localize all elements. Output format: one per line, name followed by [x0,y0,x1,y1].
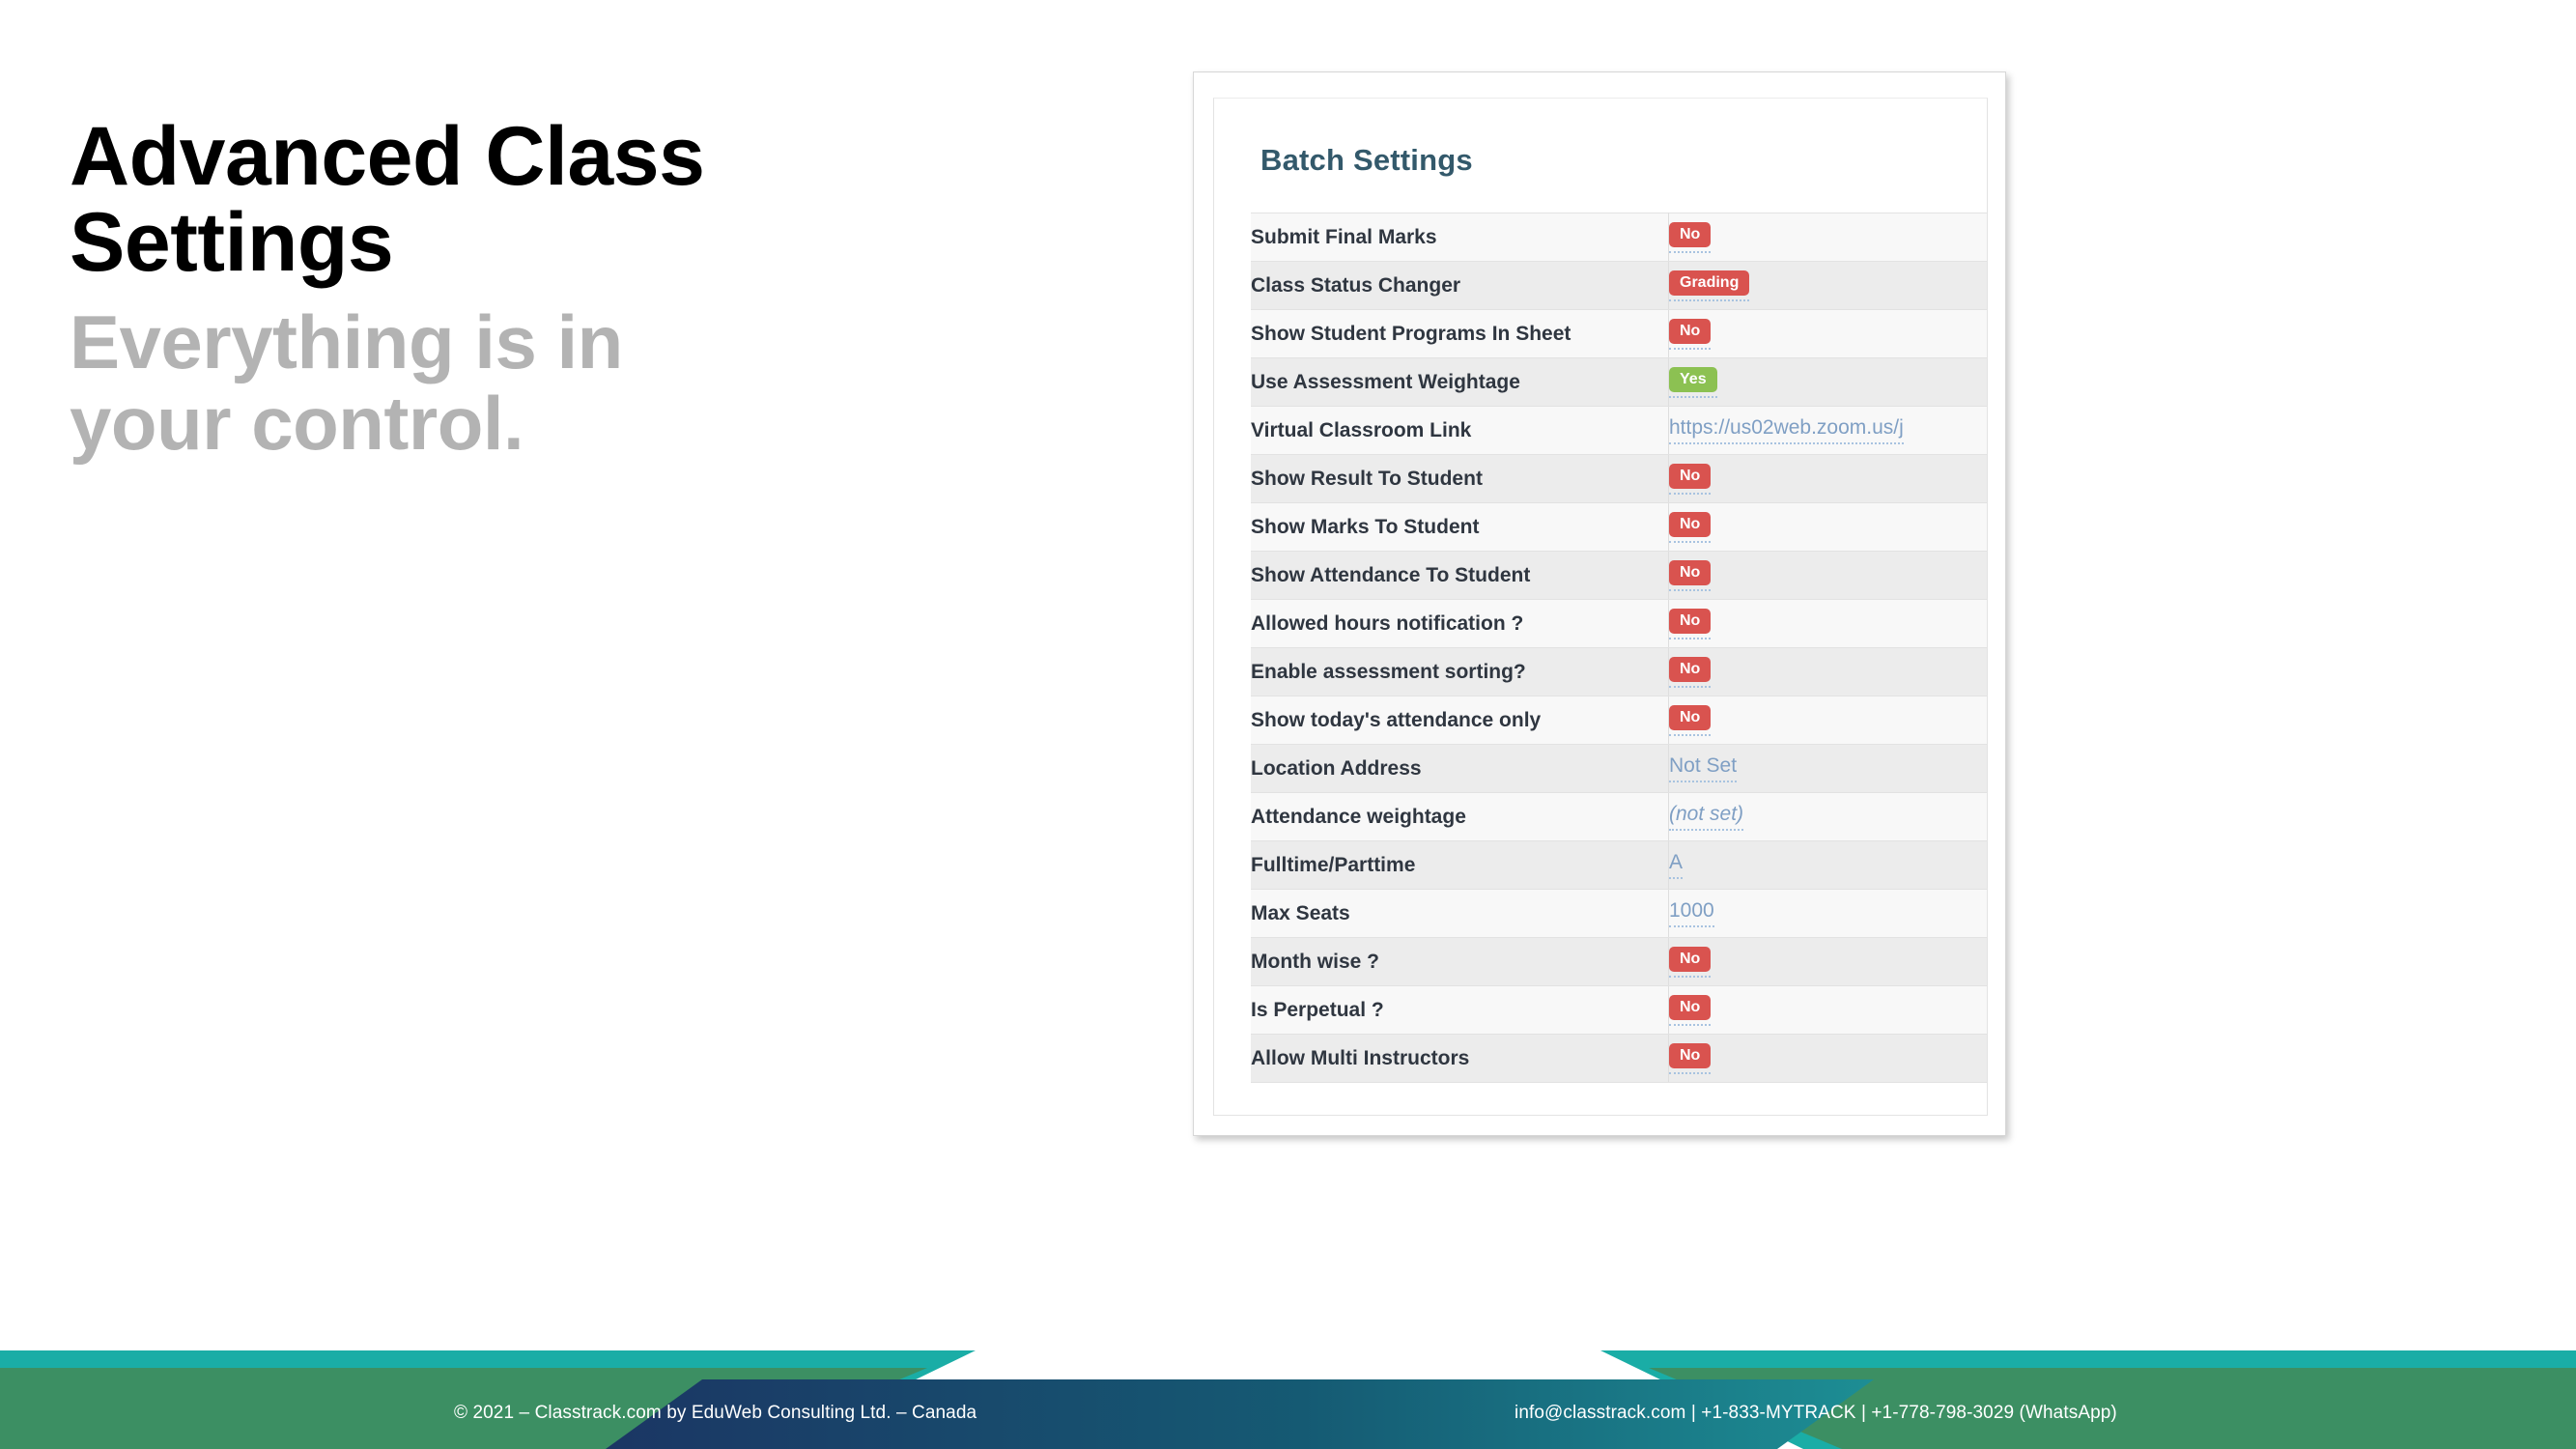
editable-value-wrapper[interactable]: No [1669,463,1711,496]
setting-label: Show Result To Student [1251,455,1669,503]
editable-value-wrapper[interactable]: No [1669,704,1711,737]
setting-value-cell[interactable]: No [1669,1035,1989,1083]
status-badge[interactable]: No [1669,319,1711,345]
setting-label: Enable assessment sorting? [1251,648,1669,696]
settings-table-body: Submit Final MarksNoClass Status Changer… [1251,213,1988,1083]
headline-block: Advanced Class Settings Everything is in… [70,114,997,464]
table-row: Show Result To StudentNo [1251,455,1988,503]
setting-value-cell[interactable]: No [1669,310,1989,358]
table-row: Submit Final MarksNo [1251,213,1988,262]
editable-value-wrapper[interactable]: No [1669,221,1711,254]
table-row: Fulltime/ParttimeA [1251,841,1988,890]
status-badge[interactable]: No [1669,705,1711,731]
setting-value-cell[interactable]: No [1669,986,1989,1035]
editable-value-wrapper[interactable]: No [1669,559,1711,592]
table-row: Show Attendance To StudentNo [1251,552,1988,600]
batch-settings-table: Submit Final MarksNoClass Status Changer… [1251,213,1988,1083]
footer-contact: info@classtrack.com | +1-833-MYTRACK | +… [1514,1403,2117,1424]
editable-value-wrapper[interactable]: No [1669,656,1711,689]
table-row: Show today's attendance onlyNo [1251,696,1988,745]
setting-label: Show Marks To Student [1251,503,1669,552]
panel-title: Batch Settings [1260,143,1987,178]
setting-value-cell[interactable]: No [1669,696,1989,745]
subheadline-line-1: Everything is in [70,302,997,383]
editable-value-wrapper[interactable]: Yes [1669,366,1717,399]
headline-line-1: Advanced Class [70,114,997,200]
setting-value-cell[interactable]: No [1669,213,1989,262]
status-badge[interactable]: Grading [1669,270,1749,297]
setting-label: Submit Final Marks [1251,213,1669,262]
editable-value-wrapper[interactable]: No [1669,1042,1711,1075]
setting-value-cell[interactable]: No [1669,503,1989,552]
setting-label: Class Status Changer [1251,262,1669,310]
table-row: Class Status ChangerGrading [1251,262,1988,310]
table-row: Enable assessment sorting?No [1251,648,1988,696]
table-row: Month wise ?No [1251,938,1988,986]
setting-value-cell[interactable]: Not Set [1669,745,1989,793]
setting-value-cell[interactable]: No [1669,648,1989,696]
status-badge[interactable]: No [1669,947,1711,973]
setting-label: Location Address [1251,745,1669,793]
status-badge[interactable]: No [1669,657,1711,683]
screenshot-card: Batch Settings Submit Final MarksNoClass… [1193,71,2006,1136]
status-badge[interactable]: No [1669,609,1711,635]
page-subtitle: Everything is in your control. [70,302,997,464]
setting-label: Allow Multi Instructors [1251,1035,1669,1083]
status-badge[interactable]: No [1669,1043,1711,1069]
footer-copyright: © 2021 – Classtrack.com by EduWeb Consul… [454,1403,977,1424]
table-row: Allowed hours notification ?No [1251,600,1988,648]
setting-value-text[interactable]: (not set) [1669,803,1743,831]
page-title: Advanced Class Settings [70,114,997,285]
setting-value-cell[interactable]: https://us02web.zoom.us/j [1669,407,1989,455]
batch-settings-panel: Batch Settings Submit Final MarksNoClass… [1213,98,1988,1116]
setting-value-cell[interactable]: No [1669,938,1989,986]
setting-label: Attendance weightage [1251,793,1669,841]
editable-value-wrapper[interactable]: No [1669,994,1711,1027]
editable-value-wrapper[interactable]: No [1669,511,1711,544]
setting-label: Month wise ? [1251,938,1669,986]
setting-label: Max Seats [1251,890,1669,938]
subheadline-line-2: your control. [70,384,997,464]
setting-value-link[interactable]: https://us02web.zoom.us/j [1669,416,1904,444]
table-row: Is Perpetual ?No [1251,986,1988,1035]
setting-value-cell[interactable]: No [1669,600,1989,648]
status-badge[interactable]: Yes [1669,367,1717,393]
setting-label: Show Student Programs In Sheet [1251,310,1669,358]
table-row: Location AddressNot Set [1251,745,1988,793]
editable-value-wrapper[interactable]: Grading [1669,270,1749,302]
editable-value-wrapper[interactable]: No [1669,608,1711,640]
setting-value-cell[interactable]: No [1669,552,1989,600]
setting-value-cell[interactable]: No [1669,455,1989,503]
status-badge[interactable]: No [1669,464,1711,490]
setting-label: Is Perpetual ? [1251,986,1669,1035]
status-badge[interactable]: No [1669,560,1711,586]
status-badge[interactable]: No [1669,222,1711,248]
status-badge[interactable]: No [1669,995,1711,1021]
setting-label: Virtual Classroom Link [1251,407,1669,455]
table-row: Virtual Classroom Linkhttps://us02web.zo… [1251,407,1988,455]
setting-label: Show today's attendance only [1251,696,1669,745]
status-badge[interactable]: No [1669,512,1711,538]
table-row: Use Assessment WeightageYes [1251,358,1988,407]
setting-value-text[interactable]: Not Set [1669,754,1737,782]
setting-value-cell[interactable]: Yes [1669,358,1989,407]
table-row: Max Seats1000 [1251,890,1988,938]
footer: © 2021 – Classtrack.com by EduWeb Consul… [0,1323,2576,1449]
table-row: Show Student Programs In SheetNo [1251,310,1988,358]
setting-value-text[interactable]: A [1669,851,1683,879]
footer-decoration [0,1323,2576,1449]
setting-value-cell[interactable]: (not set) [1669,793,1989,841]
table-row: Allow Multi InstructorsNo [1251,1035,1988,1083]
setting-value-cell[interactable]: A [1669,841,1989,890]
table-row: Show Marks To StudentNo [1251,503,1988,552]
setting-label: Show Attendance To Student [1251,552,1669,600]
setting-value-cell[interactable]: 1000 [1669,890,1989,938]
setting-value-cell[interactable]: Grading [1669,262,1989,310]
headline-line-2: Settings [70,200,997,286]
editable-value-wrapper[interactable]: No [1669,946,1711,979]
setting-label: Allowed hours notification ? [1251,600,1669,648]
setting-label: Fulltime/Parttime [1251,841,1669,890]
setting-value-text[interactable]: 1000 [1669,899,1714,927]
setting-label: Use Assessment Weightage [1251,358,1669,407]
editable-value-wrapper[interactable]: No [1669,318,1711,351]
table-row: Attendance weightage(not set) [1251,793,1988,841]
